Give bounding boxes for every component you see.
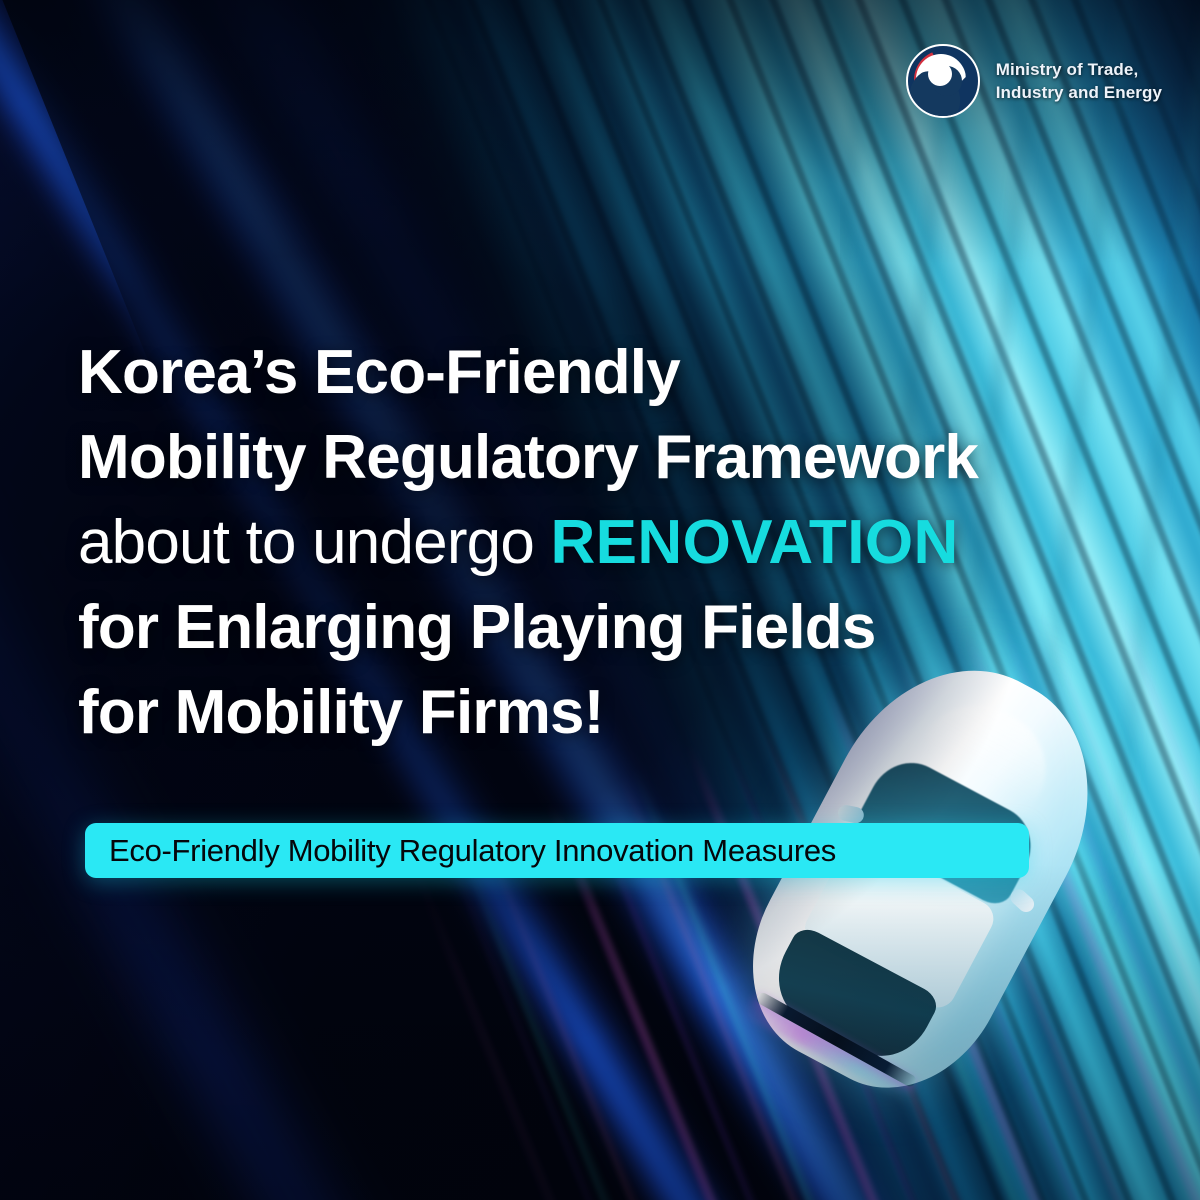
headline-block: Korea’s Eco-Friendly Mobility Regulatory… xyxy=(78,330,1138,755)
taegeuk-icon xyxy=(906,44,980,118)
headline-line-5: for Mobility Firms! xyxy=(78,670,1138,755)
ministry-logo-text: Ministry of Trade, Industry and Energy xyxy=(996,58,1162,105)
headline-accent-renovation: RENOVATION xyxy=(550,508,958,577)
subtitle-badge: Eco-Friendly Mobility Regulatory Innovat… xyxy=(85,823,1029,878)
ministry-logo-line2: Industry and Energy xyxy=(996,81,1162,104)
ministry-logo-line1: Ministry of Trade, xyxy=(996,58,1162,81)
poster-canvas: Ministry of Trade, Industry and Energy K… xyxy=(0,0,1200,1200)
headline-line-3-prefix: about to undergo xyxy=(78,508,550,577)
subtitle-badge-label: Eco-Friendly Mobility Regulatory Innovat… xyxy=(109,833,836,869)
taegeuk-inner-white xyxy=(928,62,952,86)
headline-line-2: Mobility Regulatory Framework xyxy=(78,415,1138,500)
headline-line-1: Korea’s Eco-Friendly xyxy=(78,330,1138,415)
headline-line-3: about to undergo RENOVATION xyxy=(78,500,1138,585)
headline-line-4: for Enlarging Playing Fields xyxy=(78,585,1138,670)
ministry-logo: Ministry of Trade, Industry and Energy xyxy=(906,44,1162,118)
